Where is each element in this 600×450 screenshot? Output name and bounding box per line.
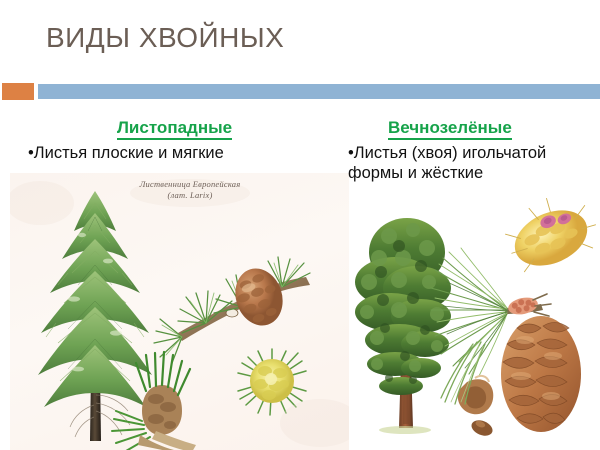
pine-female-conelet	[507, 294, 551, 317]
larch-caption-line2: (лат. Larix)	[105, 190, 275, 201]
pine-male-flower-cluster	[497, 196, 600, 279]
bullet-deciduous: •Листья плоские и мягкие	[28, 143, 348, 163]
divider-blue-bar	[38, 84, 600, 99]
bullet-evergreen-line2: формы и жёсткие	[348, 163, 598, 183]
pine-plate-artwork	[355, 196, 600, 450]
bullet-evergreen: •Листья (хвоя) игольчатой формы и жёстки…	[348, 143, 598, 183]
divider-orange-square	[2, 83, 34, 100]
pine-seed	[458, 376, 495, 439]
larch-tree-full	[38, 191, 152, 441]
slide-canvas: ВИДЫ ХВОЙНЫХ Листопадные •Листья плоские…	[0, 0, 600, 450]
pine-large-brown-cone	[501, 316, 581, 432]
column-heading-deciduous-label: Листопадные	[117, 118, 232, 140]
larch-branch-with-needles	[154, 257, 310, 363]
bullet-deciduous-text: •Листья плоские и мягкие	[28, 144, 224, 162]
column-heading-deciduous: Листопадные	[117, 118, 232, 138]
pine-illustration-panel	[355, 196, 600, 450]
column-heading-evergreen-label: Вечнозелёные	[388, 118, 512, 140]
larch-plate-caption: Лиственница Европейская (лат. Larix)	[105, 179, 275, 201]
larch-caption-line1: Лиственница Европейская	[105, 179, 275, 190]
pine-tree-full	[355, 218, 451, 434]
page-title: ВИДЫ ХВОЙНЫХ	[46, 22, 284, 54]
title-divider	[0, 83, 600, 100]
larch-plate-artwork	[10, 173, 349, 450]
larch-needle-cluster-shoot	[112, 352, 196, 450]
column-heading-evergreen: Вечнозелёные	[388, 118, 512, 138]
bullet-evergreen-line1: •Листья (хвоя) игольчатой	[348, 143, 598, 163]
larch-illustration-panel: Лиственница Европейская (лат. Larix)	[10, 173, 349, 450]
